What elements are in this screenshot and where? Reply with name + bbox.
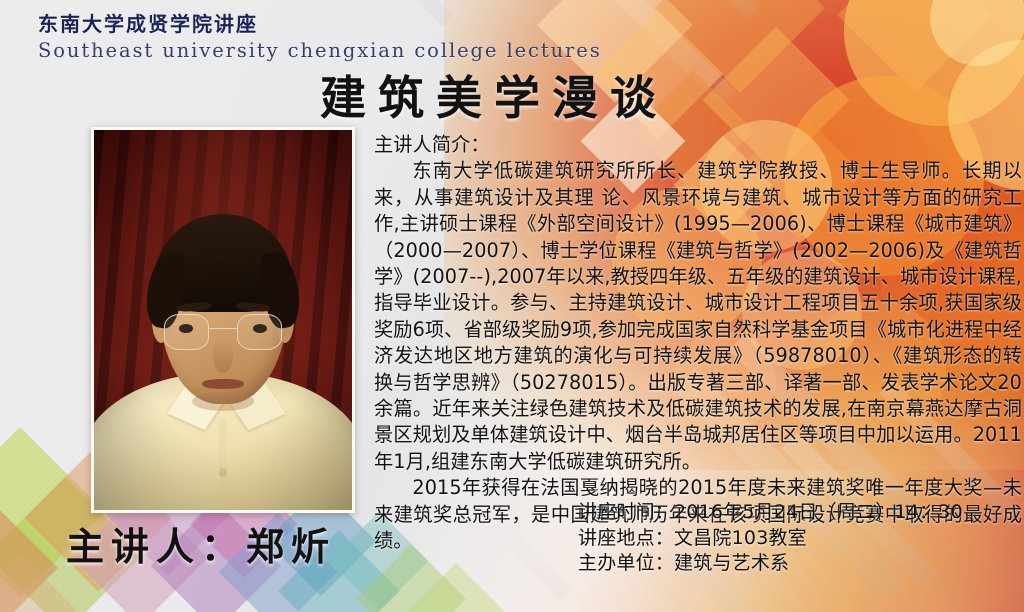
portrait-vignette (94, 130, 352, 510)
lecture-poster: 东南大学成贤学院讲座 Southeast university chengxia… (0, 0, 1024, 612)
header-title-en: Southeast university chengxian college l… (38, 38, 602, 63)
speaker-portrait (91, 127, 355, 513)
lecture-details: 讲座时间：2016年5月24日（周二）14：30 讲座地点：文昌院103教室 主… (578, 500, 963, 577)
lecture-time-label: 讲座时间： (578, 501, 674, 523)
poster-header: 东南大学成贤学院讲座 Southeast university chengxia… (38, 12, 602, 63)
lecture-host-row: 主办单位：建筑与艺术系 (578, 551, 963, 577)
speaker-biography: 主讲人简介： 东南大学低碳建筑研究所所长、建筑学院教授、博士生导师。长期以来，从… (374, 132, 1022, 555)
lecture-place-row: 讲座地点：文昌院103教室 (578, 526, 963, 552)
portrait-image (94, 130, 352, 510)
header-title-cn: 东南大学成贤学院讲座 (38, 12, 602, 37)
bio-paragraph-1: 东南大学低碳建筑研究所所长、建筑学院教授、博士生导师。长期以来，从事建筑设计及其… (374, 158, 1022, 475)
lecture-host-label: 主办单位： (578, 552, 674, 574)
speaker-name-line: 主讲人：郑炘 (66, 516, 336, 571)
lecture-time-value: 2016年5月24日（周二）14：30 (674, 501, 963, 523)
lecture-host-value: 建筑与艺术系 (674, 552, 789, 574)
page-title: 建筑美学漫谈 (320, 62, 668, 128)
lecture-time-row: 讲座时间：2016年5月24日（周二）14：30 (578, 500, 963, 526)
lecture-place-label: 讲座地点： (578, 527, 674, 549)
lecture-place-value: 文昌院103教室 (674, 527, 807, 549)
bio-heading: 主讲人简介： (374, 132, 1022, 158)
